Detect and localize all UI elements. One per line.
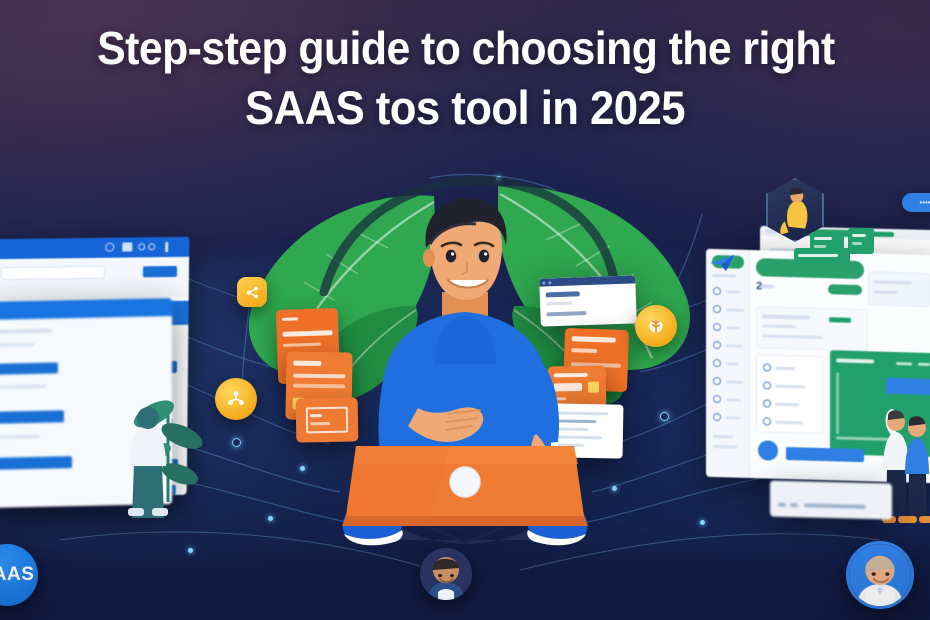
network-icon-badge[interactable] — [215, 378, 257, 420]
promo-cta-button[interactable] — [886, 378, 930, 395]
network-node — [660, 412, 669, 421]
right-dashboard-cta[interactable] — [828, 284, 862, 295]
network-node — [188, 548, 193, 553]
hero-banner: 22 — [0, 0, 930, 620]
left-dashboard-header — [0, 237, 189, 259]
network-node — [612, 486, 617, 491]
green-chip-card — [848, 228, 874, 254]
avatar-center-bottom[interactable] — [420, 548, 472, 600]
right-dashboard-footer-button[interactable] — [786, 447, 864, 462]
right-dashboard-sidebar[interactable] — [706, 249, 750, 478]
primary-action-button[interactable] — [143, 266, 177, 277]
top-right-pill-button[interactable]: •••• — [902, 193, 930, 212]
network-node — [268, 516, 273, 521]
growth-icon-badge[interactable] — [635, 305, 677, 347]
right-dashboard-row — [756, 306, 868, 351]
menu-icon[interactable] — [165, 242, 168, 252]
help-fab-icon[interactable] — [758, 440, 778, 461]
right-small-figure-b — [900, 402, 930, 524]
paper-plane-icon — [708, 252, 736, 274]
right-dashboard-keyboard-bar — [770, 481, 892, 520]
network-node — [300, 466, 305, 471]
illustrated-person-with-laptop — [330, 196, 600, 556]
right-dashboard-stat-card — [868, 271, 930, 307]
share-icon-badge[interactable] — [237, 277, 267, 307]
green-chip-card — [794, 248, 850, 264]
avatar-bottom-right[interactable] — [846, 541, 914, 609]
search-input[interactable] — [1, 266, 105, 280]
cart-icon[interactable] — [122, 242, 132, 251]
right-dashboard-list — [756, 354, 824, 434]
network-node — [232, 438, 241, 447]
left-small-figure — [120, 392, 176, 518]
network-node — [700, 520, 705, 525]
